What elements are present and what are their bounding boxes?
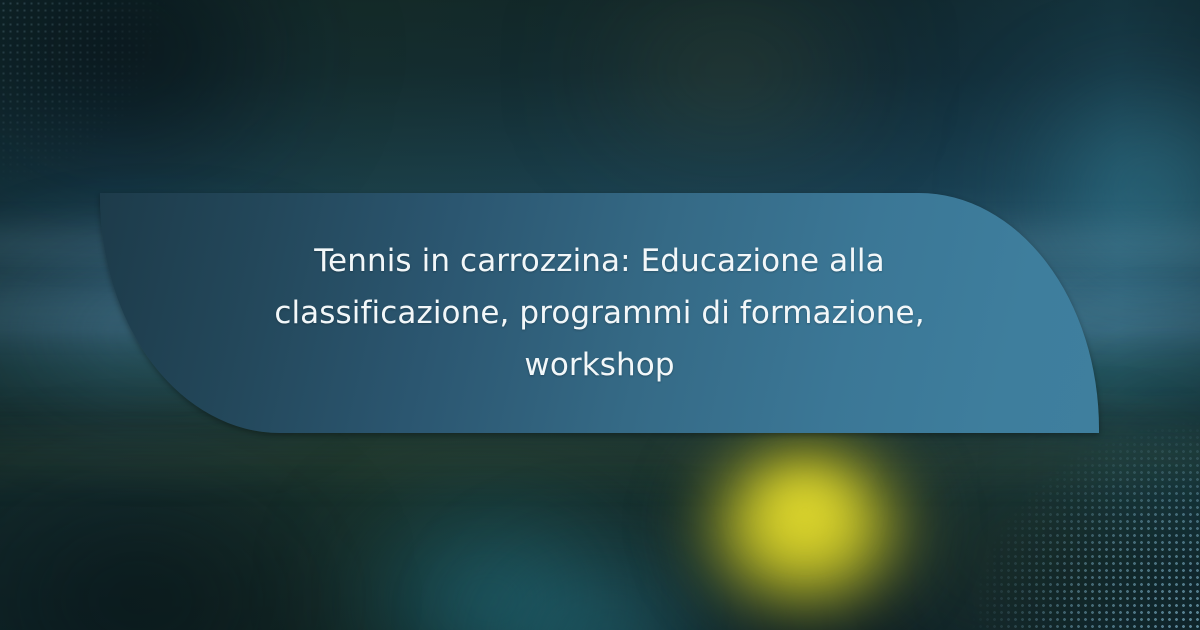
social-share-card: Tennis in carrozzina: Educazione alla cl… [0,0,1200,630]
background-streak-lower [0,446,1200,472]
tennis-ball-core [735,450,875,570]
page-title: Tennis in carrozzina: Educazione alla cl… [220,235,979,391]
title-panel: Tennis in carrozzina: Educazione alla cl… [100,193,1099,433]
